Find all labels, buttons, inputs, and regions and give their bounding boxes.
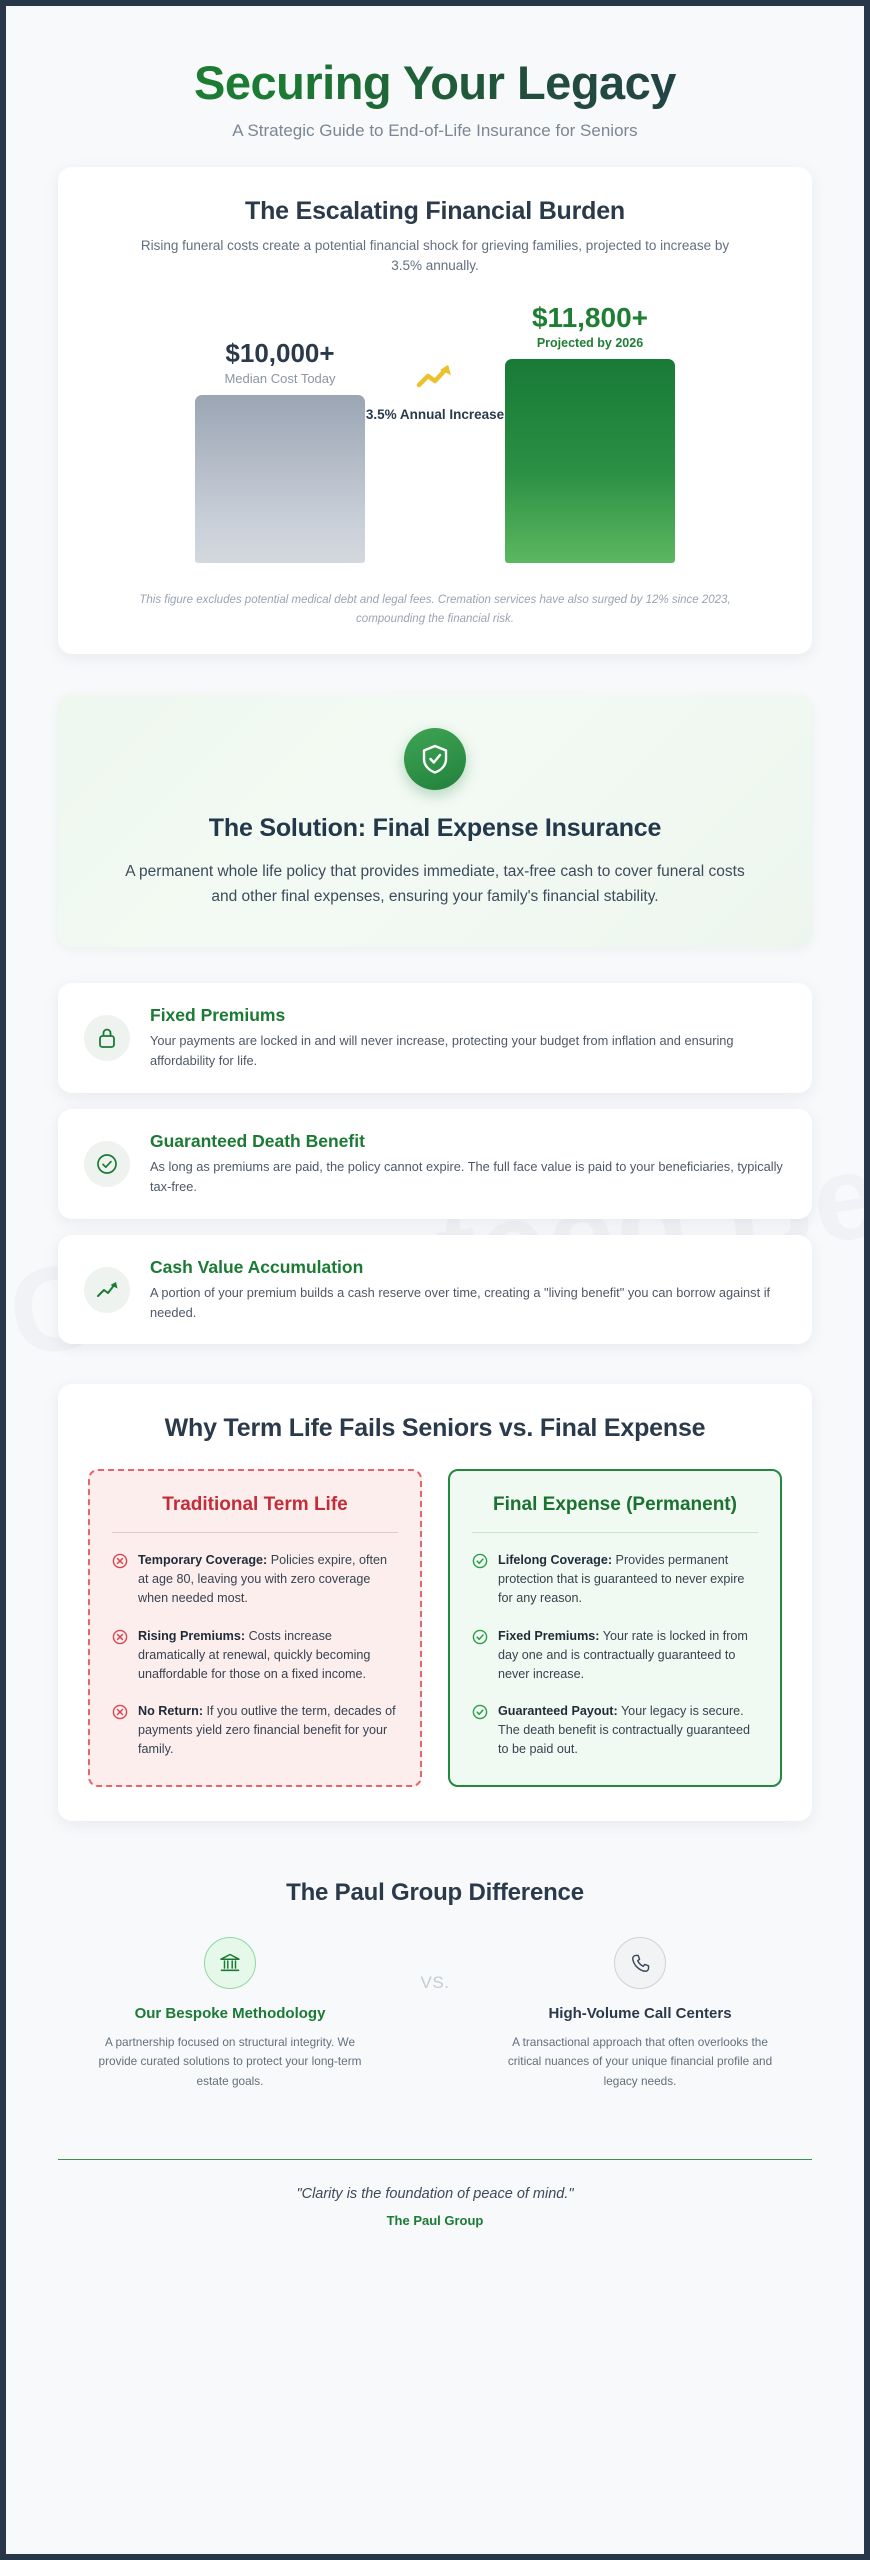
difference-title: The Paul Group Difference xyxy=(58,1879,812,1907)
comparison-point-text: Rising Premiums: Costs increase dramatic… xyxy=(138,1627,398,1684)
trending-up-icon xyxy=(415,361,455,396)
bar-chart: $10,000+ Median Cost Today 3.5% Annual I… xyxy=(92,303,778,563)
benefit-description: A portion of your premium builds a cash … xyxy=(150,1283,786,1323)
benefit-title: Guaranteed Death Benefit xyxy=(150,1131,786,1152)
benefit-title: Cash Value Accumulation xyxy=(150,1257,786,1278)
bar-today xyxy=(195,395,365,563)
comparison-point-label: Temporary Coverage: xyxy=(138,1553,267,1567)
check-circle-icon xyxy=(472,1629,488,1645)
bar-value-today: $10,000+ xyxy=(225,339,334,368)
chart-title: The Escalating Financial Burden xyxy=(92,197,778,226)
page-title: Securing Your Legacy xyxy=(58,56,812,110)
comparison-point-label: No Return: xyxy=(138,1704,203,1718)
comparison-card: Why Term Life Fails Seniors vs. Final Ex… xyxy=(58,1384,812,1821)
comparison-column-term-life: Traditional Term Life Temporary Coverage… xyxy=(88,1469,422,1787)
comparison-point-text: Temporary Coverage: Policies expire, oft… xyxy=(138,1551,398,1608)
comparison-point-text: Guaranteed Payout: Your legacy is secure… xyxy=(498,1702,758,1759)
comparison-point-text: No Return: If you outlive the term, deca… xyxy=(138,1702,398,1759)
increase-label: 3.5% Annual Increase xyxy=(366,406,504,424)
benefit-description: As long as premiums are paid, the policy… xyxy=(150,1157,786,1197)
difference-description: A partnership focused on structural inte… xyxy=(80,2033,380,2090)
x-circle-icon xyxy=(112,1629,128,1645)
chart-subtitle: Rising funeral costs create a potential … xyxy=(135,236,735,277)
bar-group-today: $10,000+ Median Cost Today xyxy=(195,303,365,563)
bar-label-today: Median Cost Today xyxy=(224,371,335,386)
comparison-point: Guaranteed Payout: Your legacy is secure… xyxy=(472,1702,758,1759)
footer: "Clarity is the foundation of peace of m… xyxy=(58,2159,812,2228)
benefit-title: Fixed Premiums xyxy=(150,1005,786,1026)
benefit-card-fixed-premiums: Fixed Premiums Your payments are locked … xyxy=(58,983,812,1093)
bar-value-projected: $11,800+ xyxy=(532,303,648,334)
comparison-point: Rising Premiums: Costs increase dramatic… xyxy=(112,1627,398,1684)
difference-column-bespoke: Our Bespoke Methodology A partnership fo… xyxy=(80,1937,380,2090)
bank-icon xyxy=(204,1937,256,1989)
benefit-description: Your payments are locked in and will nev… xyxy=(150,1031,786,1071)
solution-banner: The Solution: Final Expense Insurance A … xyxy=(58,694,812,947)
solution-body: A permanent whole life policy that provi… xyxy=(125,860,745,909)
benefit-text: Cash Value Accumulation A portion of you… xyxy=(150,1257,786,1323)
comparison-heading-term-life: Traditional Term Life xyxy=(112,1493,398,1533)
comparison-column-final-expense: Final Expense (Permanent) Lifelong Cover… xyxy=(448,1469,782,1787)
comparison-point: Temporary Coverage: Policies expire, oft… xyxy=(112,1551,398,1608)
financial-burden-card: The Escalating Financial Burden Rising f… xyxy=(58,167,812,654)
phone-icon xyxy=(614,1937,666,1989)
footer-brand: The Paul Group xyxy=(58,2213,812,2228)
comparison-point-label: Fixed Premiums: xyxy=(498,1629,599,1643)
benefit-text: Fixed Premiums Your payments are locked … xyxy=(150,1005,786,1071)
bar-projected xyxy=(505,359,675,562)
increase-annotation: 3.5% Annual Increase xyxy=(365,303,505,563)
difference-section: The Paul Group Difference Our Besp xyxy=(58,1861,812,2100)
x-circle-icon xyxy=(112,1553,128,1569)
comparison-grid: Traditional Term Life Temporary Coverage… xyxy=(88,1469,782,1787)
comparison-point-label: Rising Premiums: xyxy=(138,1629,245,1643)
comparison-point-text: Lifelong Coverage: Provides permanent pr… xyxy=(498,1551,758,1608)
comparison-point: Lifelong Coverage: Provides permanent pr… xyxy=(472,1551,758,1608)
chart-footnote: This figure excludes potential medical d… xyxy=(115,591,755,629)
footer-quote: "Clarity is the foundation of peace of m… xyxy=(58,2186,812,2202)
hero-header: Securing Your Legacy A Strategic Guide t… xyxy=(58,32,812,167)
lock-icon xyxy=(84,1015,130,1061)
check-circle-icon xyxy=(472,1704,488,1720)
x-circle-icon xyxy=(112,1704,128,1720)
comparison-point-text: Fixed Premiums: Your rate is locked in f… xyxy=(498,1627,758,1684)
trending-up-icon xyxy=(84,1267,130,1313)
comparison-point-label: Guaranteed Payout: xyxy=(498,1704,618,1718)
check-circle-icon xyxy=(84,1141,130,1187)
solution-title: The Solution: Final Expense Insurance xyxy=(102,814,768,843)
comparison-heading-final-expense: Final Expense (Permanent) xyxy=(472,1493,758,1533)
comparison-point: Fixed Premiums: Your rate is locked in f… xyxy=(472,1627,758,1684)
shield-check-icon xyxy=(404,728,466,790)
infographic-page: Guaranteed Benefit Securing Your Legacy … xyxy=(0,0,870,2560)
benefit-card-death-benefit: Guaranteed Death Benefit As long as prem… xyxy=(58,1109,812,1219)
versus-label: VS. xyxy=(380,1937,490,1993)
check-circle-icon xyxy=(472,1553,488,1569)
difference-grid: Our Bespoke Methodology A partnership fo… xyxy=(58,1937,812,2090)
comparison-title: Why Term Life Fails Seniors vs. Final Ex… xyxy=(88,1414,782,1443)
difference-column-call-centers: High-Volume Call Centers A transactional… xyxy=(490,1937,790,2090)
page-subtitle: A Strategic Guide to End-of-Life Insuran… xyxy=(58,121,812,141)
difference-name: Our Bespoke Methodology xyxy=(80,2005,380,2022)
benefit-text: Guaranteed Death Benefit As long as prem… xyxy=(150,1131,786,1197)
comparison-point-label: Lifelong Coverage: xyxy=(498,1553,612,1567)
benefit-card-cash-value: Cash Value Accumulation A portion of you… xyxy=(58,1235,812,1345)
bar-label-projected: Projected by 2026 xyxy=(537,336,643,350)
difference-name: High-Volume Call Centers xyxy=(490,2005,790,2022)
bar-group-projected: $11,800+ Projected by 2026 xyxy=(505,303,675,563)
difference-description: A transactional approach that often over… xyxy=(490,2033,790,2090)
comparison-point: No Return: If you outlive the term, deca… xyxy=(112,1702,398,1759)
